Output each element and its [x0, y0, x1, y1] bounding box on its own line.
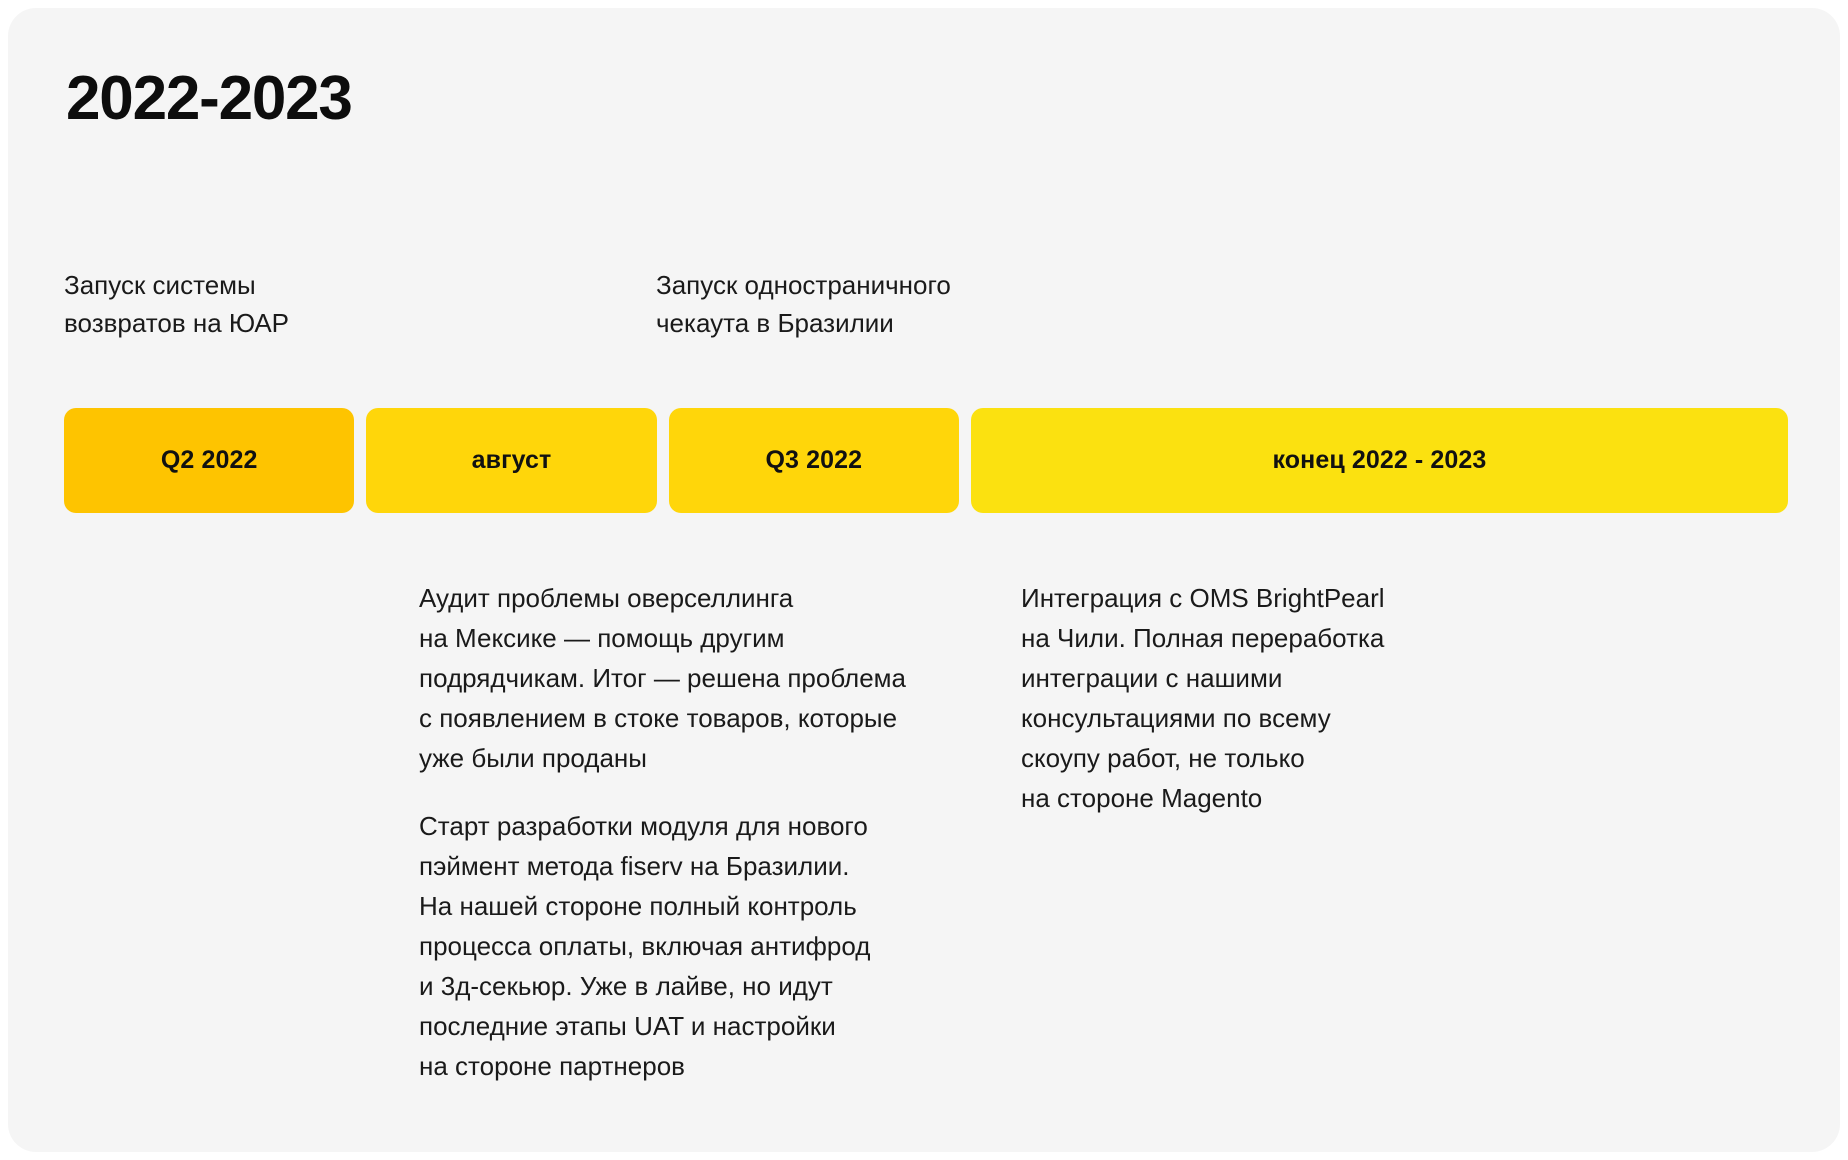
- content-column-right: Интеграция с OMS BrightPearl на Чили. По…: [1021, 578, 1491, 818]
- paragraph-brightpearl-integration: Интеграция с OMS BrightPearl на Чили. По…: [1021, 578, 1491, 818]
- top-label-returns-south-africa: Запуск системы возвратов на ЮАР: [64, 266, 394, 342]
- content-columns: Аудит проблемы оверселлинга на Мексике —…: [64, 578, 1788, 1088]
- timeline-pill-q2-2022[interactable]: Q2 2022: [64, 408, 354, 513]
- timeline-pill-q3-2022[interactable]: Q3 2022: [669, 408, 959, 513]
- timeline-card: 2022-2023 Запуск системы возвратов на ЮА…: [8, 8, 1840, 1152]
- timeline-pill-konec-2022-2023[interactable]: конец 2022 - 2023: [971, 408, 1788, 513]
- top-label-onepage-checkout-brazil: Запуск одностраничного чекаута в Бразили…: [656, 266, 1036, 342]
- page-title: 2022-2023: [66, 62, 352, 136]
- paragraph-overselling-audit: Аудит проблемы оверселлинга на Мексике —…: [419, 578, 1019, 778]
- timeline-pill-label: конец 2022 - 2023: [1273, 446, 1487, 475]
- timeline-pill-avgust[interactable]: август: [366, 408, 656, 513]
- timeline-pill-row: Q2 2022 август Q3 2022 конец 2022 - 2023: [64, 408, 1788, 513]
- timeline-pill-label: Q2 2022: [161, 446, 258, 475]
- paragraph-fiserv-module: Старт разработки модуля для нового пэйме…: [419, 806, 1019, 1086]
- timeline-pill-label: Q3 2022: [765, 446, 862, 475]
- content-column-middle: Аудит проблемы оверселлинга на Мексике —…: [419, 578, 1019, 1086]
- timeline-pill-label: август: [472, 446, 552, 475]
- top-labels-row: Запуск системы возвратов на ЮАР Запуск о…: [64, 266, 1784, 356]
